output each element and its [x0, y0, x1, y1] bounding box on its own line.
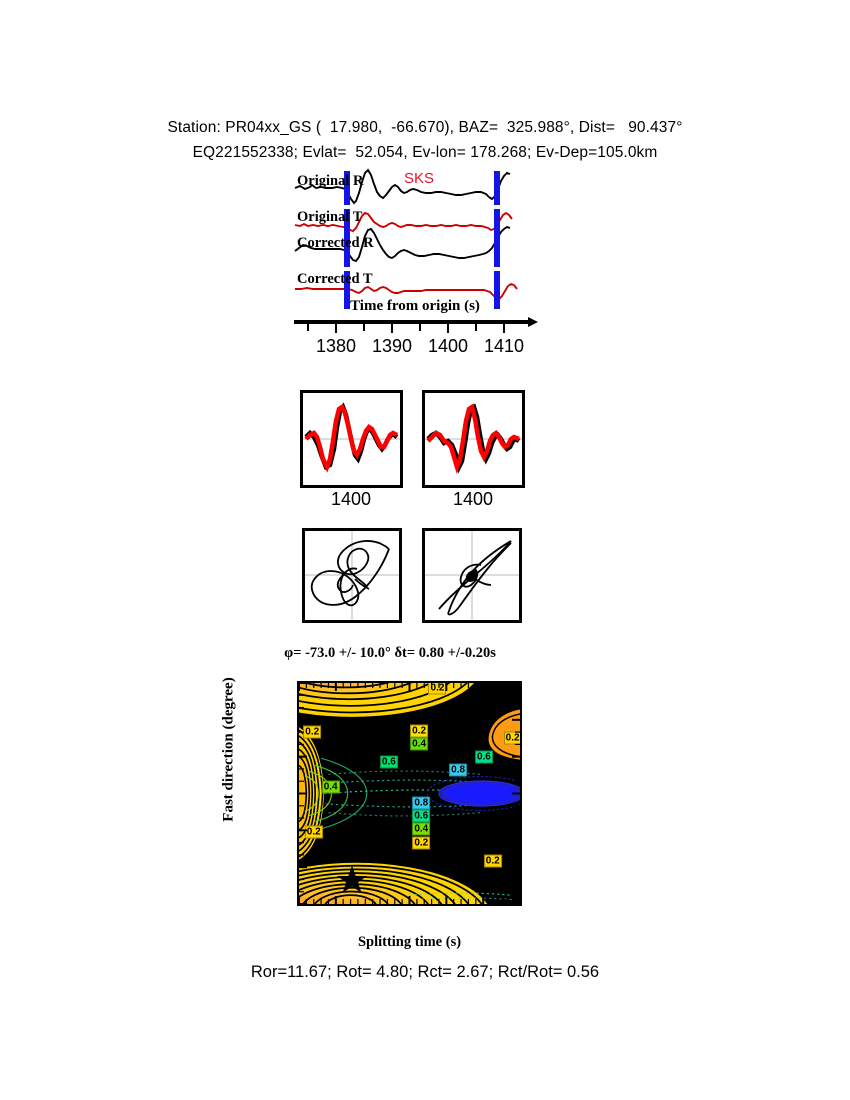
- contour-value-label: 0.6: [380, 755, 398, 768]
- compare-caption-left: 1400: [331, 489, 371, 510]
- contour-value-label: 0.2: [504, 732, 522, 745]
- hodogram-uncorrected: [305, 531, 399, 620]
- compare-caption-right: 1400: [453, 489, 493, 510]
- phase-marker-end-1: [494, 171, 500, 205]
- compare-waves-uncorrected: [303, 393, 400, 485]
- contour-value-label: 0.2: [305, 825, 323, 838]
- contour-value-label: 0.4: [322, 781, 340, 794]
- compare-waves-corrected: [425, 393, 522, 485]
- compare-panel-uncorrected: [300, 390, 403, 488]
- time-tick-1380: 1380: [316, 336, 356, 357]
- contour-value-label: 0.4: [412, 823, 430, 836]
- trace-label-original-r: Original R: [297, 173, 363, 190]
- phase-marker-end-3: [494, 233, 500, 267]
- contour-value-label: 0.4: [410, 738, 428, 751]
- contour-ylabel: Fast direction (degree): [221, 650, 238, 850]
- time-tick-1400: 1400: [428, 336, 468, 357]
- particle-motion-row: [290, 528, 535, 633]
- header-station-line: Station: PR04xx_GS ( 17.980, -66.670), B…: [0, 119, 850, 137]
- contour-value-label: 0.2: [429, 681, 447, 694]
- header-event-line: EQ221552338; Evlat= 52.054, Ev-lon= 178.…: [0, 144, 850, 162]
- time-tick-1410: 1410: [484, 336, 524, 357]
- contour-value-label: 0.2: [410, 724, 428, 737]
- sks-phase-label: SKS: [404, 170, 434, 187]
- error-surface-plot: 0.20.20.20.40.60.80.60.20.40.80.60.40.20…: [297, 681, 522, 906]
- contour-section: φ= -73.0 +/- 10.0° δt= 0.80 +/-0.20s Fas…: [180, 645, 600, 965]
- hodogram-corrected: [425, 531, 519, 620]
- contour-value-label: 0.2: [303, 726, 321, 739]
- particle-motion-uncorrected: [302, 528, 402, 623]
- contour-value-label: 0.6: [475, 750, 493, 763]
- quality-metrics-line: Ror=11.67; Rot= 4.80; Rct= 2.67; Rct/Rot…: [0, 963, 850, 982]
- time-tick-1390: 1390: [372, 336, 412, 357]
- contour-value-label: 0.8: [412, 797, 430, 810]
- time-axis-title: Time from origin (s): [290, 298, 540, 315]
- contour-value-label: 0.2: [484, 855, 502, 868]
- contour-value-label: 0.2: [412, 836, 430, 849]
- trace-label-original-t: Original T: [297, 209, 362, 226]
- particle-motion-corrected: [422, 528, 522, 623]
- compare-panel-corrected: [422, 390, 525, 488]
- time-axis: Time from origin (s) 1380 1390 1400 1410: [290, 300, 540, 358]
- splitting-result-title: φ= -73.0 +/- 10.0° δt= 0.80 +/-0.20s: [180, 645, 600, 662]
- trace-label-corrected-t: Corrected T: [297, 271, 373, 288]
- contour-xlabel: Splitting time (s): [297, 934, 522, 951]
- contour-value-label: 0.8: [449, 764, 467, 777]
- contour-value-label: 0.6: [412, 809, 430, 822]
- waveform-comparison-row: 1400 1400: [290, 385, 535, 515]
- waveform-panel: Original R Original T Corrected R Correc…: [290, 165, 540, 315]
- trace-label-corrected-r: Corrected R: [297, 235, 374, 252]
- figure-page: Station: PR04xx_GS ( 17.980, -66.670), B…: [0, 0, 850, 1100]
